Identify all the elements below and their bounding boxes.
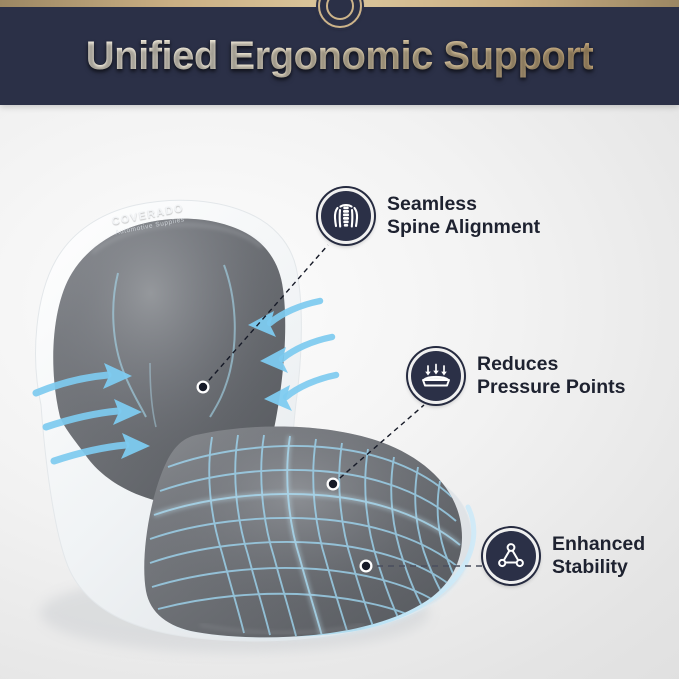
callout-stability-line1: Enhanced <box>552 533 645 556</box>
callout-reduces-pressure[interactable]: Reduces Pressure Points <box>408 348 625 404</box>
callout-spine-line1: Seamless <box>387 193 540 216</box>
callout-enhanced-stability[interactable]: Enhanced Stability <box>483 528 645 584</box>
spine-alignment-icon <box>318 188 374 244</box>
page-title: Unified Ergonomic Support <box>86 34 593 79</box>
infographic-canvas: COVERADO Automotive Supplies Unified Erg… <box>0 0 679 679</box>
pressure-cushion-icon <box>408 348 464 404</box>
stability-triangle-icon <box>483 528 539 584</box>
callout-spine-text: Seamless Spine Alignment <box>387 193 540 239</box>
callout-spine-alignment[interactable]: Seamless Spine Alignment <box>318 188 540 244</box>
callout-spine-line2: Spine Alignment <box>387 216 540 239</box>
callout-pressure-line2: Pressure Points <box>477 376 625 399</box>
callout-pressure-line1: Reduces <box>477 353 625 376</box>
callout-stability-text: Enhanced Stability <box>552 533 645 579</box>
callout-pressure-text: Reduces Pressure Points <box>477 353 625 399</box>
callout-stability-line2: Stability <box>552 556 645 579</box>
